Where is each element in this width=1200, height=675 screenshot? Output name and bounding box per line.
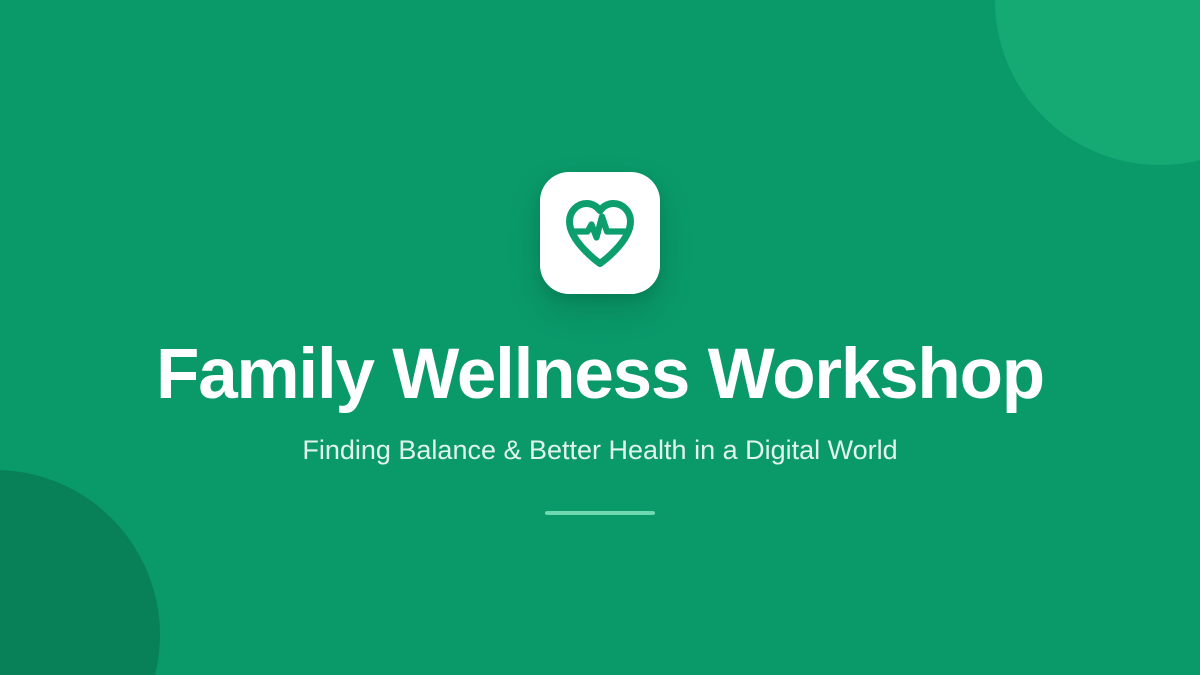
slide-subtitle: Finding Balance & Better Health in a Dig… [302,437,897,464]
icon-card [540,172,660,294]
heart-pulse-icon [563,198,637,268]
accent-divider [545,511,655,515]
title-slide: Family Wellness Workshop Finding Balance… [0,0,1200,675]
page-title: Family Wellness Workshop [156,339,1044,410]
slide-content: Family Wellness Workshop Finding Balance… [0,0,1200,675]
